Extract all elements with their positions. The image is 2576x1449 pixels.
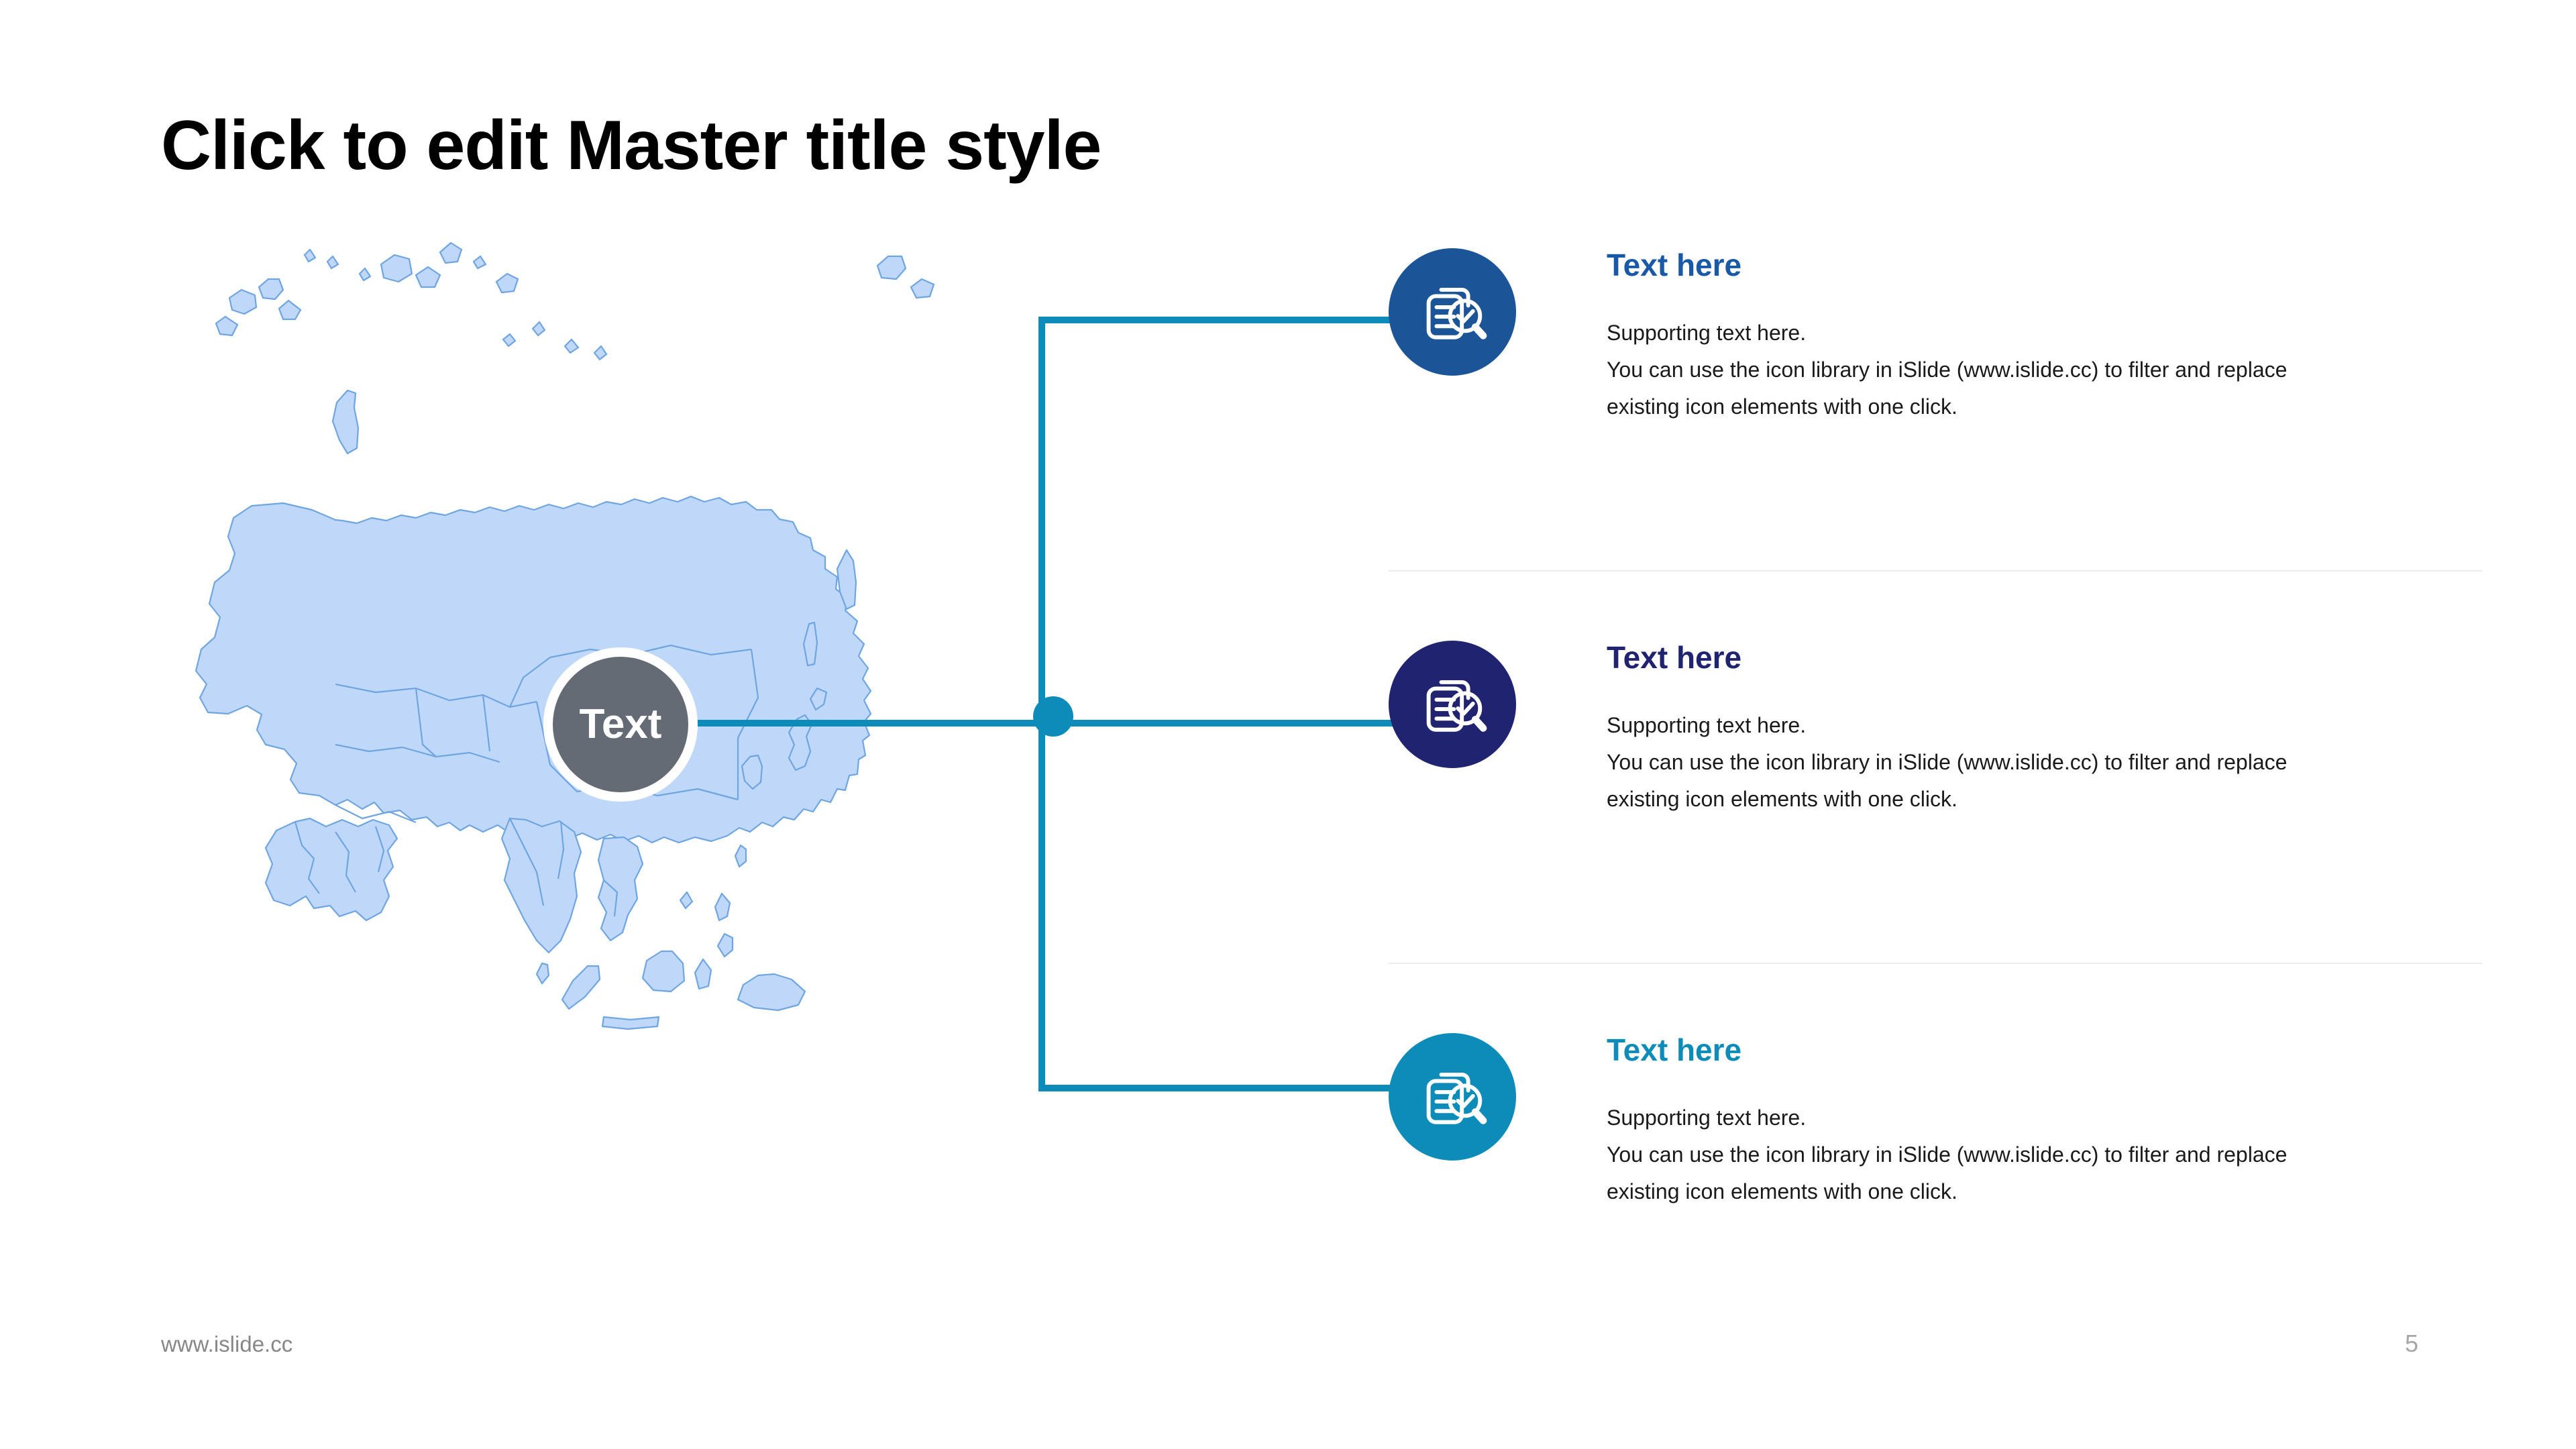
asia-map [134, 215, 959, 1046]
document-search-check-icon [1413, 272, 1492, 352]
item-icon-circle[interactable] [1389, 248, 1516, 376]
item-icon-circle[interactable] [1389, 1033, 1516, 1161]
item-heading: Text here [1607, 1033, 2432, 1067]
item-description-line: Supporting text here. [1607, 707, 2432, 744]
page-number: 5 [2405, 1330, 2418, 1358]
item-description-line: You can use the icon library in iSlide (… [1607, 1136, 2432, 1173]
item-heading: Text here [1607, 248, 2432, 282]
asia-map-svg [134, 215, 959, 1046]
item-description-line: existing icon elements with one click. [1607, 1173, 2432, 1210]
item-icon-circle[interactable] [1389, 641, 1516, 768]
item-body: Text here Supporting text here. You can … [1607, 641, 2432, 818]
item-heading: Text here [1607, 641, 2432, 675]
item-description-line: Supporting text here. [1607, 1099, 2432, 1136]
item-body: Text here Supporting text here. You can … [1607, 248, 2432, 425]
map-center-marker[interactable]: Text [543, 647, 698, 802]
page-title: Click to edit Master title style [161, 107, 1101, 184]
item-divider [1389, 570, 2482, 572]
item-description-line: existing icon elements with one click. [1607, 388, 2432, 425]
item-description: Supporting text here. You can use the ic… [1607, 707, 2432, 818]
item-description-line: Supporting text here. [1607, 315, 2432, 352]
document-search-check-icon [1413, 665, 1492, 744]
map-center-marker-label: Text [580, 704, 662, 745]
footer-url[interactable]: www.islide.cc [161, 1332, 292, 1357]
item-description-line: You can use the icon library in iSlide (… [1607, 744, 2432, 781]
item-description: Supporting text here. You can use the ic… [1607, 315, 2432, 425]
item-description-line: existing icon elements with one click. [1607, 781, 2432, 818]
item-description: Supporting text here. You can use the ic… [1607, 1099, 2432, 1210]
document-search-check-icon [1413, 1057, 1492, 1136]
item-body: Text here Supporting text here. You can … [1607, 1033, 2432, 1210]
item-divider [1389, 963, 2482, 964]
connector-junction-dot [1033, 696, 1073, 737]
item-description-line: You can use the icon library in iSlide (… [1607, 352, 2432, 388]
